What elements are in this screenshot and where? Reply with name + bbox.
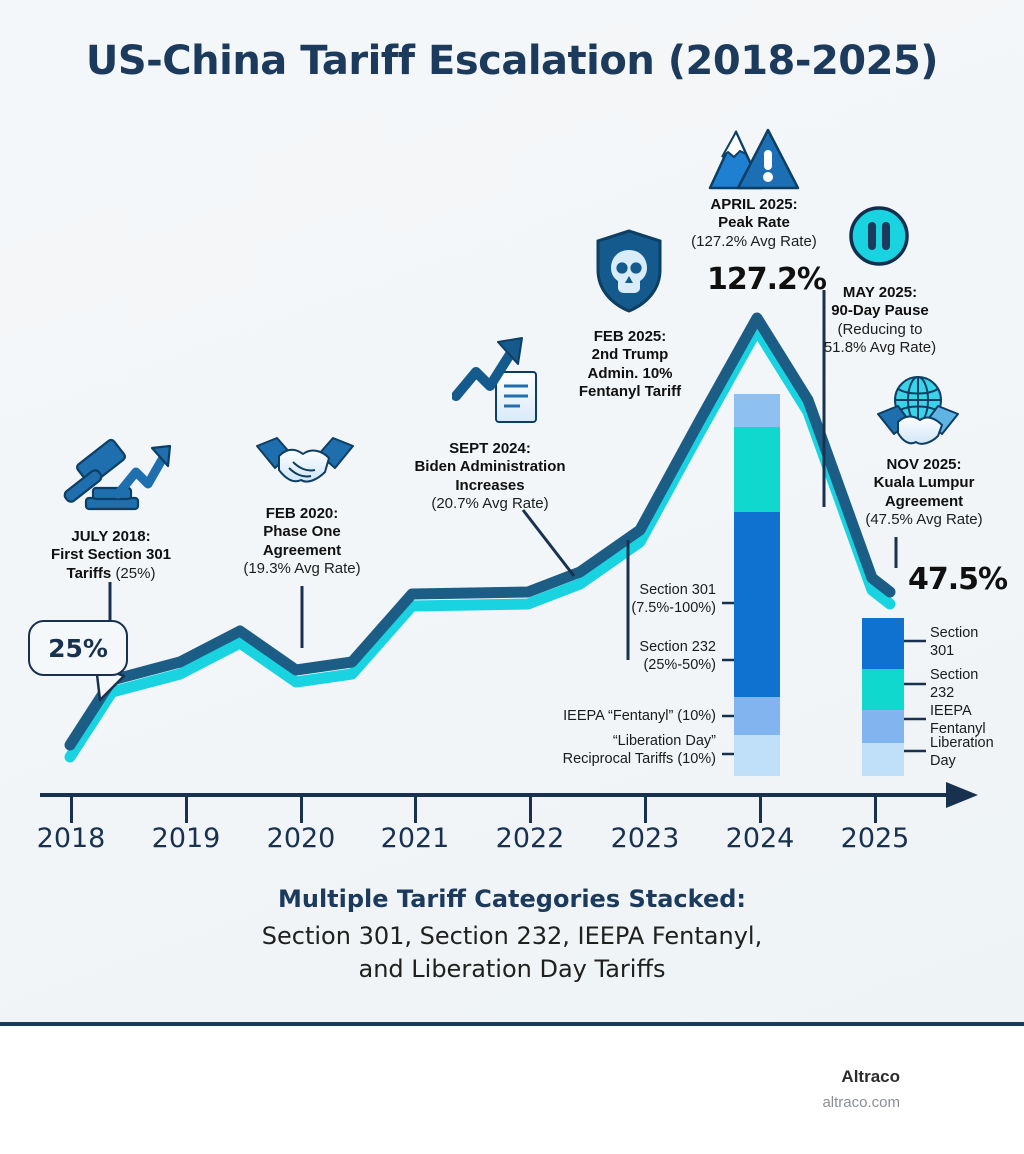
annotation-line2: Phase One	[196, 523, 408, 541]
axis-label-2021: 2021	[360, 823, 470, 854]
legend-swatch-section-301	[862, 618, 904, 669]
annotation-line2: First Section 301	[0, 546, 222, 564]
annotation-rate: (47.5% Avg Rate)	[832, 511, 1016, 529]
peak-value-label: 127.2%	[707, 262, 826, 297]
axis-tick-2023	[644, 797, 647, 823]
legend-label-liberation-day: Liberation Day	[930, 734, 994, 770]
annotation-line3: Agreement	[832, 493, 1016, 511]
annotation-feb-2020: FEB 2020: Phase One Agreement (19.3% Avg…	[196, 505, 408, 578]
mountain-alert-icon	[708, 124, 800, 198]
annotation-rate: (19.3% Avg Rate)	[196, 560, 408, 578]
gavel-rising-arrow-icon	[56, 428, 176, 520]
annotation-line2: 2nd Trump	[540, 346, 720, 364]
rising-chart-document-icon	[452, 336, 548, 426]
footer-url: altraco.com	[822, 1094, 900, 1111]
bar-label-section-232: Section 232 (25%-50%)	[540, 638, 716, 674]
start-value-callout: 25%	[28, 620, 128, 676]
axis-tick-2019	[185, 797, 188, 823]
annotation-nov-2025: NOV 2025: Kuala Lumpur Agreement (47.5% …	[832, 456, 1016, 529]
bar-segment-liberation-day	[734, 394, 780, 427]
legend-swatch-liberation-day	[862, 743, 904, 776]
bar-segment-ieepa-fentanyl	[734, 697, 780, 735]
legend-swatch-ieepa-fentanyl	[862, 710, 904, 743]
bar-segment-section-301	[734, 512, 780, 697]
annotation-rate: (127.2% Avg Rate)	[654, 233, 854, 251]
axis-tick-2022	[529, 797, 532, 823]
annotation-rate: (Reducing to	[800, 321, 960, 339]
annotation-sept-2024: SEPT 2024: Biden Administration Increase…	[370, 440, 610, 513]
stacked-bar-2024	[734, 394, 780, 776]
axis-label-2018: 2018	[16, 823, 126, 854]
annotation-date: APRIL 2025:	[654, 196, 854, 214]
annotation-feb-2025: FEB 2025: 2nd Trump Admin. 10% Fentanyl …	[540, 328, 720, 401]
annotation-date: JULY 2018:	[0, 528, 222, 546]
end-value-label: 47.5%	[908, 562, 1007, 597]
axis-label-2020: 2020	[246, 823, 356, 854]
axis-label-2019: 2019	[131, 823, 241, 854]
x-axis-line	[40, 793, 958, 797]
globe-handshake-icon	[876, 374, 960, 450]
bar-segment-reciprocal	[734, 735, 780, 776]
handshake-icon	[255, 428, 355, 498]
annotation-line2: 90-Day Pause	[800, 302, 960, 320]
leader-sept-2024	[523, 510, 574, 576]
infographic-root: US-China Tariff Escalation (2018-2025)	[0, 0, 1024, 1154]
annotation-rate: (20.7% Avg Rate)	[370, 495, 610, 513]
caption-body: Section 301, Section 232, IEEPA Fentanyl…	[0, 920, 1024, 986]
annotation-line2: Biden Administration	[370, 458, 610, 476]
annotation-line2: Kuala Lumpur	[832, 474, 1016, 492]
footer-brand: Altraco	[841, 1067, 900, 1087]
axis-tick-2025	[874, 797, 877, 823]
legend-label-ieepa-fentanyl: IEEPA Fentanyl	[930, 702, 986, 738]
annotation-line3: Tariffs (25%)	[0, 565, 222, 583]
axis-label-2023: 2023	[590, 823, 700, 854]
footer	[0, 1026, 1024, 1154]
annotation-line3: Increases	[370, 477, 610, 495]
legend-swatch-section-232	[862, 669, 904, 710]
legend-stacked-bar	[862, 618, 904, 776]
caption-line-2: Section 301, Section 232, IEEPA Fentanyl…	[0, 920, 1024, 953]
annotation-line4: Fentanyl Tariff	[540, 383, 720, 401]
axis-tick-2021	[414, 797, 417, 823]
annotation-july-2018: JULY 2018: First Section 301 Tariffs (25…	[0, 528, 222, 583]
bar-segment-section-232	[734, 427, 780, 512]
bar-label-liberation-day: “Liberation Day” Reciprocal Tariffs (10%…	[500, 732, 716, 768]
annotation-line3: Agreement	[196, 542, 408, 560]
bar-label-section-301: Section 301 (7.5%-100%)	[540, 581, 716, 617]
pause-circle-icon	[848, 205, 910, 267]
axis-label-2024: 2024	[705, 823, 815, 854]
annotation-april-2025: APRIL 2025: Peak Rate (127.2% Avg Rate)	[654, 196, 854, 251]
axis-label-2022: 2022	[475, 823, 585, 854]
legend-label-section-232: Section 232	[930, 666, 978, 702]
legend-label-section-301: Section 301	[930, 624, 978, 660]
annotation-line2: Peak Rate	[654, 214, 854, 232]
annotation-date: SEPT 2024:	[370, 440, 610, 458]
annotation-rate-2: 51.8% Avg Rate)	[800, 339, 960, 357]
annotation-rate: (25%)	[115, 565, 155, 582]
annotation-date: NOV 2025:	[832, 456, 1016, 474]
bar-label-ieepa-fentanyl: IEEPA “Fentanyl” (10%)	[500, 707, 716, 725]
annotation-date: FEB 2025:	[540, 328, 720, 346]
caption-heading: Multiple Tariff Categories Stacked:	[0, 885, 1024, 913]
axis-label-2025: 2025	[820, 823, 930, 854]
axis-tick-2020	[300, 797, 303, 823]
axis-tick-2018	[70, 797, 73, 823]
caption-line-3: and Liberation Day Tariffs	[0, 953, 1024, 986]
footer-divider	[0, 1022, 1024, 1026]
axis-tick-2024	[759, 797, 762, 823]
annotation-line3: Admin. 10%	[540, 365, 720, 383]
